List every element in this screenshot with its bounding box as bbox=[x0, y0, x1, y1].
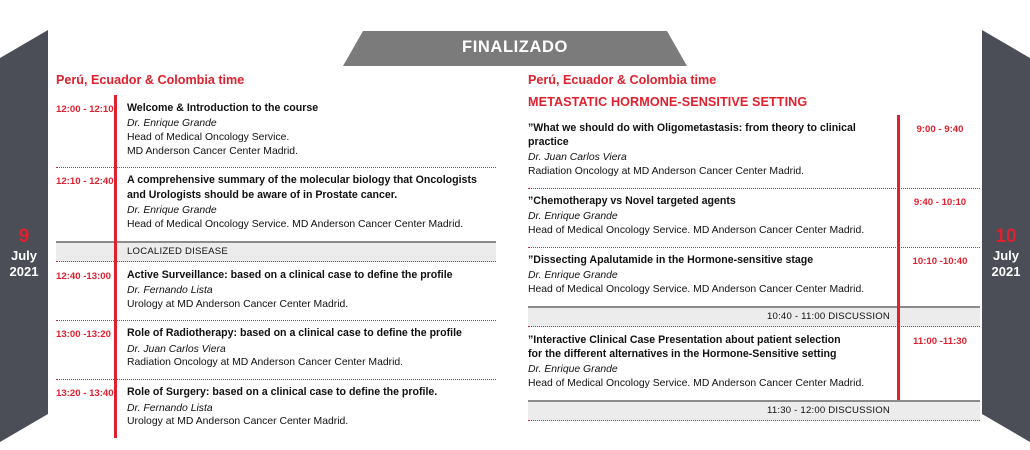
agenda-row: ”Interactive Clinical Case Presentation … bbox=[528, 327, 980, 400]
discussion-band-1: 10:40 - 11:00 DISCUSSION bbox=[528, 306, 980, 327]
section-band-label: LOCALIZED DISEASE bbox=[56, 247, 228, 257]
row-speaker: Dr. Juan Carlos Viera bbox=[528, 151, 887, 165]
discussion-band-2: 11:30 - 12:00 DISCUSSION bbox=[528, 400, 980, 421]
agenda-row: 13:00 -13:20 Role of Radiotherapy: based… bbox=[56, 320, 496, 379]
timezone-title-left: Perú, Ecuador & Colombia time bbox=[56, 74, 496, 87]
row-time: 13:00 -13:20 bbox=[56, 320, 114, 379]
timezone-title-right: Perú, Ecuador & Colombia time bbox=[528, 74, 980, 87]
section-band-localized-disease: LOCALIZED DISEASE bbox=[56, 241, 496, 262]
agenda-rows-left-part1: 12:00 - 12:10 Welcome & Introduction to … bbox=[56, 95, 496, 241]
agenda-page: FINALIZADO 9 July 2021 10 July 2021 Perú… bbox=[0, 0, 1030, 450]
row-body: Role of Radiotherapy: based on a clinica… bbox=[117, 320, 496, 379]
row-body: ”Chemotherapy vs Novel targeted agents D… bbox=[528, 188, 897, 247]
agenda-row: ”Dissecting Apalutamide in the Hormone-s… bbox=[528, 247, 980, 306]
row-title: Active Surveillance: based on a clinical… bbox=[127, 268, 496, 282]
agenda-row: ”Chemotherapy vs Novel targeted agents D… bbox=[528, 188, 980, 247]
row-time: 12:10 - 12:40 bbox=[56, 167, 114, 240]
ribbon-left-year: 2021 bbox=[0, 264, 48, 279]
agenda-row: 12:00 - 12:10 Welcome & Introduction to … bbox=[56, 95, 496, 168]
row-title: A comprehensive summary of the molecular… bbox=[127, 173, 496, 187]
agenda-row: 13:20 - 13:40 Role of Surgery: based on … bbox=[56, 379, 496, 438]
row-affiliation: Head of Medical Oncology Service. MD And… bbox=[528, 224, 887, 238]
discussion-band-label: 10:40 - 11:00 DISCUSSION bbox=[767, 312, 980, 322]
ribbon-left-day: 9 bbox=[0, 226, 48, 248]
ribbon-right-year: 2021 bbox=[982, 264, 1030, 279]
row-title: ”Chemotherapy vs Novel targeted agents bbox=[528, 194, 887, 208]
row-affiliation: Head of Medical Oncology Service. MD And… bbox=[528, 283, 887, 297]
row-speaker: Dr. Fernando Lista bbox=[127, 284, 496, 298]
ribbon-left-month: July bbox=[0, 248, 48, 263]
row-speaker: Dr. Enrique Grande bbox=[528, 210, 887, 224]
row-title: Role of Surgery: based on a clinical cas… bbox=[127, 385, 496, 399]
row-affiliation: Radiation Oncology at MD Anderson Cancer… bbox=[528, 165, 887, 179]
row-time: 12:40 -13:00 bbox=[56, 262, 114, 321]
row-speaker: Dr. Enrique Grande bbox=[528, 363, 887, 377]
status-badge: FINALIZADO bbox=[462, 39, 568, 58]
agenda-rows-right-part1: ”What we should do with Oligometastasis:… bbox=[528, 115, 980, 306]
agenda-rows-right-part2: ”Interactive Clinical Case Presentation … bbox=[528, 327, 980, 400]
ribbon-right-day: 10 bbox=[982, 226, 1030, 248]
date-ribbon-left: 9 July 2021 bbox=[0, 30, 48, 442]
row-title-2: and Urologists should be aware of in Pro… bbox=[127, 188, 496, 202]
row-speaker: Dr. Enrique Grande bbox=[528, 269, 887, 283]
band-accent-line bbox=[114, 241, 117, 262]
row-affiliation: Urology at MD Anderson Cancer Center Mad… bbox=[127, 298, 496, 312]
row-title: Welcome & Introduction to the course bbox=[127, 101, 496, 115]
agenda-column-day1: Perú, Ecuador & Colombia time 12:00 - 12… bbox=[56, 74, 496, 438]
agenda-row: 12:40 -13:00 Active Surveillance: based … bbox=[56, 262, 496, 321]
agenda-row: ”What we should do with Oligometastasis:… bbox=[528, 115, 980, 188]
row-body: Active Surveillance: based on a clinical… bbox=[117, 262, 496, 321]
row-affiliation: Head of Medical Oncology Service. MD And… bbox=[528, 377, 887, 391]
ribbon-right-month: July bbox=[982, 248, 1030, 263]
row-title: Role of Radiotherapy: based on a clinica… bbox=[127, 326, 496, 340]
row-affiliation: Head of Medical Oncology Service. bbox=[127, 131, 496, 145]
row-time: 13:20 - 13:40 bbox=[56, 379, 114, 438]
row-title: ”Dissecting Apalutamide in the Hormone-s… bbox=[528, 253, 887, 267]
row-title-2: for the different alternatives in the Ho… bbox=[528, 347, 887, 361]
date-ribbon-right: 10 July 2021 bbox=[982, 30, 1030, 442]
row-title: ”Interactive Clinical Case Presentation … bbox=[528, 333, 887, 347]
row-body: Role of Surgery: based on a clinical cas… bbox=[117, 379, 496, 438]
discussion-band-label: 11:30 - 12:00 DISCUSSION bbox=[767, 406, 980, 416]
agenda-column-day2: Perú, Ecuador & Colombia time METASTATIC… bbox=[528, 74, 980, 421]
row-time: 11:00 -11:30 bbox=[900, 327, 980, 400]
row-time: 9:40 - 10:10 bbox=[900, 188, 980, 247]
agenda-row: 12:10 - 12:40 A comprehensive summary of… bbox=[56, 167, 496, 240]
band-accent-line bbox=[897, 306, 900, 327]
row-title: ”What we should do with Oligometastasis:… bbox=[528, 121, 887, 149]
row-affiliation: Head of Medical Oncology Service. MD And… bbox=[127, 218, 496, 232]
row-body: ”Dissecting Apalutamide in the Hormone-s… bbox=[528, 247, 897, 306]
row-speaker: Dr. Enrique Grande bbox=[127, 117, 496, 131]
row-speaker: Dr. Enrique Grande bbox=[127, 204, 496, 218]
section-title-metastatic: METASTATIC HORMONE-SENSITIVE SETTING bbox=[528, 96, 980, 109]
row-body: ”What we should do with Oligometastasis:… bbox=[528, 115, 897, 188]
row-body: A comprehensive summary of the molecular… bbox=[117, 167, 496, 240]
row-time: 9:00 - 9:40 bbox=[900, 115, 980, 188]
row-time: 10:10 -10:40 bbox=[900, 247, 980, 306]
row-body: Welcome & Introduction to the course Dr.… bbox=[117, 95, 496, 168]
row-speaker: Dr. Juan Carlos Viera bbox=[127, 343, 496, 357]
row-speaker: Dr. Fernando Lista bbox=[127, 402, 496, 416]
agenda-rows-left-part2: 12:40 -13:00 Active Surveillance: based … bbox=[56, 262, 496, 439]
row-affiliation: Radiation Oncology at MD Anderson Cancer… bbox=[127, 356, 496, 370]
row-body: ”Interactive Clinical Case Presentation … bbox=[528, 327, 897, 400]
row-affiliation: Urology at MD Anderson Cancer Center Mad… bbox=[127, 415, 496, 429]
row-time: 12:00 - 12:10 bbox=[56, 95, 114, 168]
status-banner: FINALIZADO bbox=[343, 31, 687, 66]
row-affiliation-2: MD Anderson Cancer Center Madrid. bbox=[127, 145, 496, 159]
